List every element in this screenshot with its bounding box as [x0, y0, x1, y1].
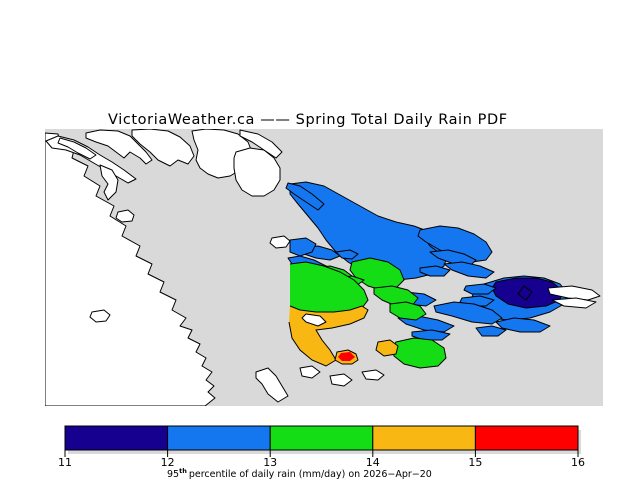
- colorbar-tick-label-15: 15: [468, 456, 482, 469]
- colorbar-tick-label-13: 13: [263, 456, 277, 469]
- colorbar-tick-label-14: 14: [366, 456, 380, 469]
- colorbar-band-14-15[interactable]: [373, 426, 476, 450]
- colorbar-tick-label-16: 16: [571, 456, 585, 469]
- map-panel: [45, 129, 603, 406]
- page-title: VictoriaWeather.ca —— Spring Total Daily…: [108, 112, 508, 128]
- colorbar-band-13-14[interactable]: [270, 426, 373, 450]
- colorbar-caption-superscript: th: [179, 467, 187, 475]
- colorbar-tick-label-12: 12: [161, 456, 175, 469]
- colorbar-band-15-16[interactable]: [475, 426, 578, 450]
- colorbar-tick-label-11: 11: [58, 456, 72, 469]
- colorbar-band-11-12[interactable]: [65, 426, 168, 450]
- colorbar-caption-prefix: 95: [167, 469, 179, 480]
- colorbar-caption: 95thpercentile of daily rain (mm/day) on…: [167, 467, 432, 480]
- weather-map-figure: VictoriaWeather.ca —— Spring Total Daily…: [0, 0, 640, 480]
- colorbar-band-12-13[interactable]: [168, 426, 271, 450]
- colorbar-caption-main: percentile of daily rain (mm/day) on 202…: [189, 469, 432, 480]
